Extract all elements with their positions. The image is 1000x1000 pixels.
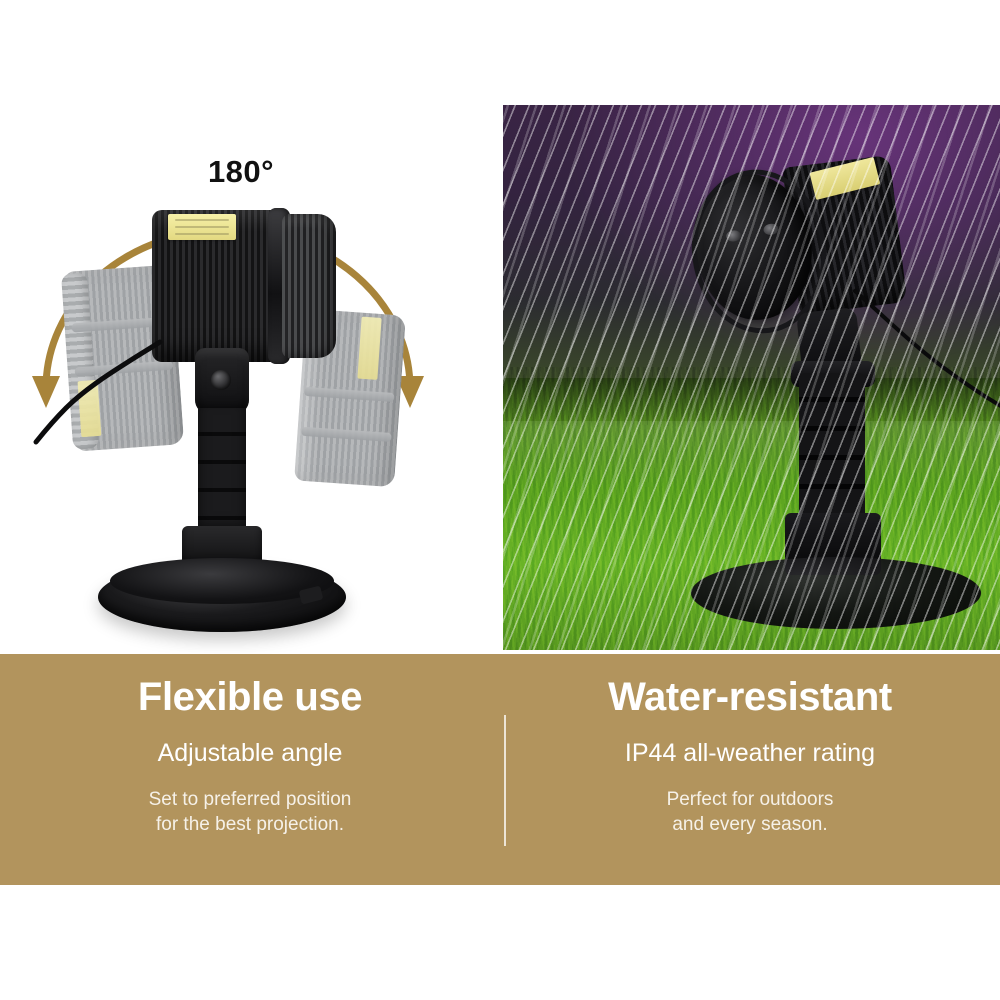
projector-head bbox=[152, 210, 334, 362]
caption-subtitle: Adjustable angle bbox=[158, 740, 343, 768]
bottom-white-margin bbox=[0, 885, 1000, 1000]
projector-lens-housing bbox=[282, 214, 336, 358]
projector-rotation-illustration bbox=[0, 0, 500, 654]
product-feature-graphic: 180° bbox=[0, 0, 1000, 1000]
caption-body: Set to preferred position for the best p… bbox=[149, 787, 352, 838]
caption-flexible-use: Flexible use Adjustable angle Set to pre… bbox=[0, 654, 500, 885]
caption-band: Flexible use Adjustable angle Set to pre… bbox=[0, 654, 1000, 885]
left-diagram-panel: 180° bbox=[0, 0, 500, 654]
rain-streaks-far bbox=[503, 105, 1000, 650]
caption-body-line-1: Set to preferred position bbox=[149, 787, 352, 813]
caption-body-line-2: and every season. bbox=[667, 812, 834, 838]
pivot-screw bbox=[211, 370, 231, 390]
right-photo-panel bbox=[503, 105, 1000, 650]
caption-title: Water-resistant bbox=[608, 676, 892, 718]
ghost-label-left bbox=[78, 380, 102, 437]
projector-label-sticker bbox=[168, 214, 236, 240]
caption-divider bbox=[504, 715, 506, 846]
caption-title: Flexible use bbox=[138, 676, 362, 718]
projector-stem bbox=[198, 408, 246, 534]
caption-water-resistant: Water-resistant IP44 all-weather rating … bbox=[500, 654, 1000, 885]
caption-subtitle: IP44 all-weather rating bbox=[625, 740, 875, 768]
caption-body-line-1: Perfect for outdoors bbox=[667, 787, 834, 813]
photo-row: 180° bbox=[0, 0, 1000, 654]
caption-body: Perfect for outdoors and every season. bbox=[667, 787, 834, 838]
projector-yoke bbox=[195, 348, 249, 414]
caption-body-line-2: for the best projection. bbox=[149, 812, 352, 838]
